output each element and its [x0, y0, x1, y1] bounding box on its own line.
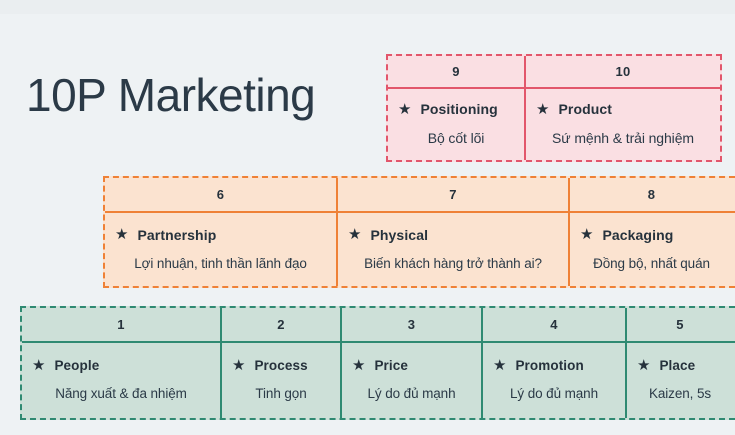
- group-core-body-row: ★ Positioning Bộ cốt lõi ★ Product Sứ mệ…: [388, 87, 720, 160]
- cell-promotion-desc: Lý do đủ mạnh: [493, 386, 615, 401]
- cell-packaging-desc: Đồng bộ, nhất quán: [580, 256, 723, 271]
- cell-place-label: Place: [659, 358, 695, 373]
- cell-partnership-heading: ★ Partnership: [115, 227, 326, 243]
- cell-process-heading: ★ Process: [232, 358, 330, 373]
- star-icon: ★: [536, 102, 549, 117]
- cell-number-2: 2: [222, 308, 342, 341]
- cell-number-5: 5: [627, 308, 733, 341]
- group-core-number-row: 9 10: [388, 56, 720, 87]
- cell-partnership-desc: Lợi nhuận, tinh thần lãnh đạo: [115, 256, 326, 271]
- cell-packaging-label: Packaging: [602, 227, 673, 243]
- cell-number-10: 10: [526, 56, 720, 87]
- cell-price-heading: ★ Price: [352, 358, 471, 373]
- page-title: 10P Marketing: [26, 68, 315, 122]
- cell-packaging[interactable]: ★ Packaging Đồng bộ, nhất quán: [570, 213, 733, 286]
- cell-packaging-heading: ★ Packaging: [580, 227, 723, 243]
- star-icon: ★: [348, 227, 361, 242]
- group-mid-body-row: ★ Partnership Lợi nhuận, tinh thần lãnh …: [105, 211, 735, 286]
- cell-number-8: 8: [570, 178, 733, 211]
- cell-place-heading: ★ Place: [637, 358, 723, 373]
- cell-promotion-label: Promotion: [515, 358, 583, 373]
- cell-number-7: 7: [338, 178, 570, 211]
- cell-price-desc: Lý do đủ mạnh: [352, 386, 471, 401]
- top-band: [0, 0, 735, 14]
- group-mid-orange: 6 7 8 ★ Partnership Lợi nhuận, tinh thần…: [103, 176, 735, 288]
- star-icon: ★: [398, 102, 411, 117]
- star-icon: ★: [637, 358, 650, 373]
- cell-product-label: Product: [558, 101, 612, 117]
- cell-positioning-label: Positioning: [420, 101, 497, 117]
- star-icon: ★: [352, 358, 365, 373]
- group-base-green: 1 2 3 4 5 ★ People Năng xuất & đa nhiệm …: [20, 306, 735, 420]
- cell-price-label: Price: [374, 358, 408, 373]
- cell-positioning-desc: Bộ cốt lõi: [398, 130, 514, 146]
- cell-people-desc: Năng xuất & đa nhiệm: [32, 386, 210, 401]
- infographic-canvas: 10P Marketing 9 10 ★ Positioning Bộ cốt …: [0, 0, 735, 435]
- cell-partnership[interactable]: ★ Partnership Lợi nhuận, tinh thần lãnh …: [105, 213, 338, 286]
- cell-physical[interactable]: ★ Physical Biến khách hàng trở thành ai?: [338, 213, 570, 286]
- cell-physical-label: Physical: [370, 227, 428, 243]
- cell-place[interactable]: ★ Place Kaizen, 5s: [627, 343, 733, 418]
- cell-positioning-heading: ★ Positioning: [398, 101, 514, 117]
- cell-number-9: 9: [388, 56, 526, 87]
- cell-process-label: Process: [254, 358, 307, 373]
- cell-number-4: 4: [483, 308, 627, 341]
- cell-number-1: 1: [22, 308, 222, 341]
- cell-product-heading: ★ Product: [536, 101, 710, 117]
- cell-promotion-heading: ★ Promotion: [493, 358, 615, 373]
- cell-process-desc: Tinh gọn: [232, 386, 330, 401]
- cell-product-desc: Sứ mệnh & trải nghiệm: [536, 130, 710, 146]
- star-icon: ★: [493, 358, 506, 373]
- cell-people[interactable]: ★ People Năng xuất & đa nhiệm: [22, 343, 222, 418]
- cell-number-3: 3: [342, 308, 483, 341]
- cell-physical-heading: ★ Physical: [348, 227, 558, 243]
- cell-price[interactable]: ★ Price Lý do đủ mạnh: [342, 343, 483, 418]
- group-core-pink: 9 10 ★ Positioning Bộ cốt lõi ★ Product …: [386, 54, 722, 162]
- cell-process[interactable]: ★ Process Tinh gọn: [222, 343, 342, 418]
- cell-number-6: 6: [105, 178, 338, 211]
- star-icon: ★: [115, 227, 128, 242]
- group-base-number-row: 1 2 3 4 5: [22, 308, 735, 341]
- cell-people-label: People: [54, 358, 99, 373]
- cell-people-heading: ★ People: [32, 358, 210, 373]
- group-base-body-row: ★ People Năng xuất & đa nhiệm ★ Process …: [22, 341, 735, 418]
- star-icon: ★: [580, 227, 593, 242]
- cell-place-desc: Kaizen, 5s: [637, 386, 723, 401]
- cell-positioning[interactable]: ★ Positioning Bộ cốt lõi: [388, 89, 526, 160]
- group-mid-number-row: 6 7 8: [105, 178, 735, 211]
- cell-partnership-label: Partnership: [137, 227, 216, 243]
- cell-product[interactable]: ★ Product Sứ mệnh & trải nghiệm: [526, 89, 720, 160]
- cell-physical-desc: Biến khách hàng trở thành ai?: [348, 256, 558, 271]
- star-icon: ★: [32, 358, 45, 373]
- cell-promotion[interactable]: ★ Promotion Lý do đủ mạnh: [483, 343, 627, 418]
- star-icon: ★: [232, 358, 245, 373]
